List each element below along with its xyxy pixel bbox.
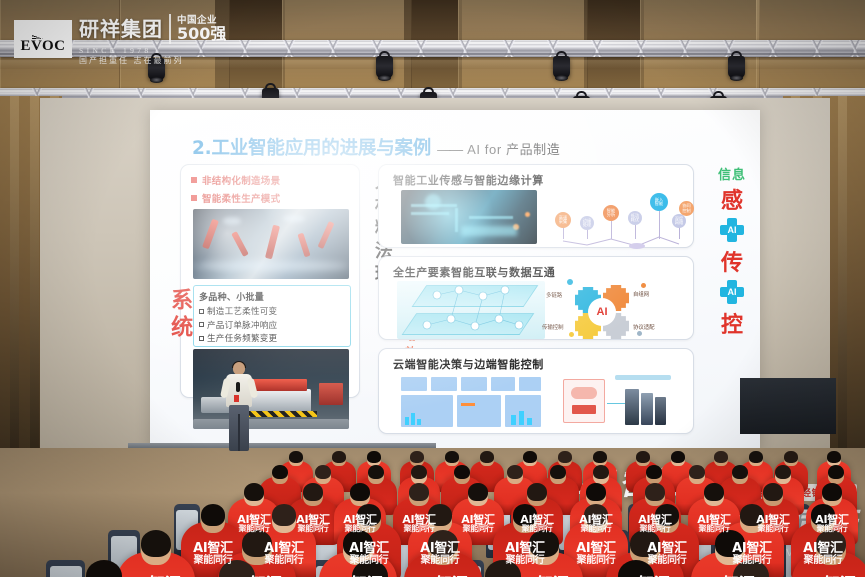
audience-hair	[527, 483, 547, 501]
audience-shirt-logo: AI智汇	[516, 514, 558, 525]
audience-shirt-logo: AI智汇	[575, 514, 617, 525]
audience-shirt-sublogo: 聚能同行	[811, 525, 853, 533]
stage-light	[728, 56, 745, 78]
audience-hair	[636, 451, 649, 463]
strip-char-sense: 感	[721, 183, 743, 215]
bubble-node: 高速采集	[555, 212, 571, 228]
right-card-sensing: 智能工业传感与智能边缘计算 高速采集 边缘处理 智能分析 低功耗	[378, 164, 694, 248]
audience-hair	[289, 451, 302, 463]
audience-shirt-sublogo: 聚能同行	[188, 556, 239, 566]
left-bullet-2-label: 智能柔性生产模式	[202, 191, 280, 205]
chair-pad	[50, 566, 82, 577]
audience-hair	[704, 483, 724, 501]
evoc-logo-mark: EVOC	[14, 20, 72, 58]
left-subbox-item-label: 生产任务频繁变更	[207, 332, 277, 344]
edge-computing-chip-photo	[401, 190, 537, 244]
stage-light	[376, 56, 393, 78]
audience-hair	[468, 483, 488, 501]
bubble-node: 边缘处理	[580, 216, 594, 230]
audience-hair	[763, 483, 783, 501]
bubble-node: 低功耗优	[628, 211, 642, 225]
audience-shirt-sublogo: 聚能同行	[457, 525, 499, 533]
audience-hair	[775, 465, 791, 479]
audience-shirt-sublogo: 聚能同行	[798, 556, 849, 566]
audience-shirt-logo: AI智汇	[642, 542, 693, 555]
strip-char-control: 控	[721, 307, 743, 339]
audience-hair	[646, 465, 662, 479]
cloud-edge-diagram	[563, 373, 683, 431]
audience-shirt-sublogo: 聚能同行	[344, 556, 395, 566]
audience-hair	[749, 451, 762, 463]
audience-shirt-logo: AI智汇	[344, 542, 395, 555]
audience-shirt-sublogo: 聚能同行	[259, 556, 310, 566]
audience-hair	[507, 465, 523, 479]
audience-hair	[593, 451, 606, 463]
sunburst-icon	[32, 25, 54, 39]
audience-shirt-sublogo: 聚能同行	[500, 556, 551, 566]
strip-label-information: 信息	[718, 164, 746, 183]
audience-shirt-sublogo: 聚能同行	[752, 525, 794, 533]
ai-plus-badge-icon: AI	[720, 218, 744, 242]
network-topology-layers-photo	[397, 281, 545, 339]
audience-hair	[201, 504, 225, 526]
presenter-badge	[234, 395, 239, 402]
audience-hair	[350, 483, 370, 501]
right-card-interconnect: 全生产要素智能互联与数据互通	[378, 256, 694, 340]
right-card-interconnect-title: 全生产要素智能互联与数据互通	[393, 264, 555, 280]
left-subbox-heading: 多品种、小批量	[199, 290, 345, 303]
audience-hair	[523, 451, 536, 463]
audience-hair	[822, 483, 842, 501]
slide-title-sub: AI for 产品制造	[467, 139, 560, 158]
left-subbox-item: 产品订单脉冲响应	[199, 319, 345, 331]
microphone-icon	[236, 382, 240, 392]
audience-hair	[244, 483, 264, 501]
left-bullet-2: 智能柔性生产模式	[191, 191, 359, 205]
audience-shirt-sublogo: 聚能同行	[727, 556, 778, 566]
audience-hair	[689, 465, 705, 479]
audience-hair	[411, 465, 427, 479]
left-subbox-item-label: 制造工艺柔性可变	[207, 305, 277, 317]
audience-hair	[671, 451, 684, 463]
bubble-node: 嵌入智能	[650, 193, 668, 211]
audience-shirt-logo: AI智汇	[339, 514, 381, 525]
ai-center-badge: AI	[590, 300, 614, 324]
audience-shirt-sublogo: 聚能同行	[642, 556, 693, 566]
audience-shirt-logo: AI智汇	[798, 542, 849, 555]
audience-hair	[332, 451, 345, 463]
audience-hair	[141, 530, 171, 557]
audience-shirt-logo: AI智汇	[415, 542, 466, 555]
cloud-dashboard-photo	[395, 373, 547, 431]
agv-logistics-robot-photo	[193, 349, 349, 429]
audience-shirt-sublogo: 聚能同行	[398, 525, 440, 533]
robot-welding-line-photo	[193, 209, 349, 279]
left-subbox-item-label: 产品订单脉冲响应	[207, 319, 277, 331]
audience-shirt-sublogo: 聚能同行	[571, 556, 622, 566]
logo-divider	[169, 14, 171, 44]
audience-hair	[827, 451, 840, 463]
vertical-label-system: 系统	[168, 288, 191, 342]
checkbox-square-icon	[199, 309, 204, 314]
audience-shirt-logo: AI智汇	[693, 514, 735, 525]
left-content-card: 非结构化制造场景 智能柔性生产模式 多品种、小批量 制造工	[180, 164, 360, 398]
audience-hair	[593, 465, 609, 479]
ai-plus-label: AI	[720, 218, 744, 242]
audience-shirt-logo: AI智汇	[727, 542, 778, 555]
audience-hair	[445, 451, 458, 463]
audience-hair	[409, 483, 429, 501]
audience-shirt-logo: AI智汇	[292, 514, 334, 525]
bubble-node: 智能分析	[603, 205, 619, 221]
audience-shirt-sublogo: 聚能同行	[415, 556, 466, 566]
audience-shirt-sublogo: 聚能同行	[233, 525, 275, 533]
left-bullet-1-label: 非结构化制造场景	[202, 173, 280, 187]
audience-shirt-logo: AI智汇	[188, 542, 239, 555]
audience-shirt-logo: AI智汇	[571, 542, 622, 555]
audience-hair	[480, 451, 493, 463]
bubble-node: 深度网络	[672, 214, 686, 228]
side-table	[740, 378, 836, 434]
ai-plus-badge-icon: AI	[720, 280, 744, 304]
gear-label-transmission: 传输控制	[542, 323, 564, 331]
checkbox-square-icon	[199, 336, 204, 341]
audience-hair	[784, 451, 797, 463]
slide-title-dash: ——	[437, 141, 461, 157]
audience-hair	[558, 451, 571, 463]
audience-shirt-sublogo: 聚能同行	[339, 525, 381, 533]
audience-shirt-logo: AI智汇	[233, 514, 275, 525]
left-bullet-1: 非结构化制造场景	[191, 173, 359, 187]
audience-shirt-sublogo: 聚能同行	[292, 525, 334, 533]
right-card-cloud-control-title: 云端智能决策与边端智能控制	[393, 356, 544, 372]
audience-shirt-logo: AI智汇	[811, 514, 853, 525]
audience-hair	[550, 465, 566, 479]
presenter-with-microphone	[222, 362, 256, 454]
audience-hair	[368, 465, 384, 479]
gear-label-protocol: 协议适配	[633, 323, 655, 331]
right-card-cloud-control: 云端智能决策与边端智能控制	[378, 348, 694, 434]
audience-shirt-sublogo: 聚能同行	[516, 525, 558, 533]
left-subbox-item: 制造工艺柔性可变	[199, 305, 345, 317]
audience-hair	[367, 451, 380, 463]
audience-hair	[732, 465, 748, 479]
conference-hall-photo: 2.工业智能应用的进展与案例 —— AI for 产品制造 非结构化制造场景 智…	[0, 0, 865, 577]
gear-label-adhoc: 自组网	[633, 290, 649, 298]
slide-title: 2.工业智能应用的进展与案例 —— AI for 产品制造	[192, 134, 560, 160]
right-card-sensing-title: 智能工业传感与智能边缘计算	[393, 172, 544, 188]
bullet-square-icon	[191, 177, 197, 183]
audience-shirt-sublogo: 聚能同行	[634, 525, 676, 533]
audience-hair	[410, 451, 423, 463]
audience-shirt-logo: AI智汇	[259, 542, 310, 555]
corporate-logo: EVOC 研祥集团 中国企业 500强 SINCE 1978 国产担重任 志在最…	[14, 14, 226, 65]
audience-shirt-logo: AI智汇	[398, 514, 440, 525]
audience-shirt-logo: AI智汇	[457, 514, 499, 525]
left-subbox: 多品种、小批量 制造工艺柔性可变 产品订单脉冲响应 生产任务频繁变更	[193, 285, 351, 347]
evoc-wordmark: EVOC	[20, 38, 65, 55]
audience-hair	[303, 483, 323, 501]
bubble-node: 协同控制	[679, 201, 694, 216]
audience-hair	[828, 465, 844, 479]
stage-light	[553, 56, 570, 78]
slide-title-main: 2.工业智能应用的进展与案例	[192, 134, 431, 160]
ai-plus-label: AI	[720, 280, 744, 304]
bullet-square-icon	[191, 195, 197, 201]
badge-line-2: 500强	[177, 26, 226, 42]
left-subbox-item: 生产任务频繁变更	[199, 332, 345, 344]
company-name-cn: 研祥集团	[79, 19, 163, 39]
audience-shirt-logo: AI智汇	[752, 514, 794, 525]
audience-hair	[645, 483, 665, 501]
gear-label-multilink: 多链路	[546, 291, 562, 299]
audience-hair	[272, 465, 288, 479]
since-text: SINCE 1978	[79, 47, 226, 55]
audience-shirt-logo: AI智汇	[500, 542, 551, 555]
checkbox-square-icon	[199, 322, 204, 327]
audience-shirt-sublogo: 聚能同行	[693, 525, 735, 533]
audience-hair	[315, 465, 331, 479]
audience-hair	[454, 465, 470, 479]
audience-shirt-sublogo: 聚能同行	[575, 525, 617, 533]
audience-shirt-logo: AI智汇	[634, 514, 676, 525]
slogan-text: 国产担重任 志在最前列	[79, 57, 226, 65]
strip-char-transmit: 传	[721, 245, 743, 277]
audience-hair	[714, 451, 727, 463]
audience-hair	[586, 483, 606, 501]
